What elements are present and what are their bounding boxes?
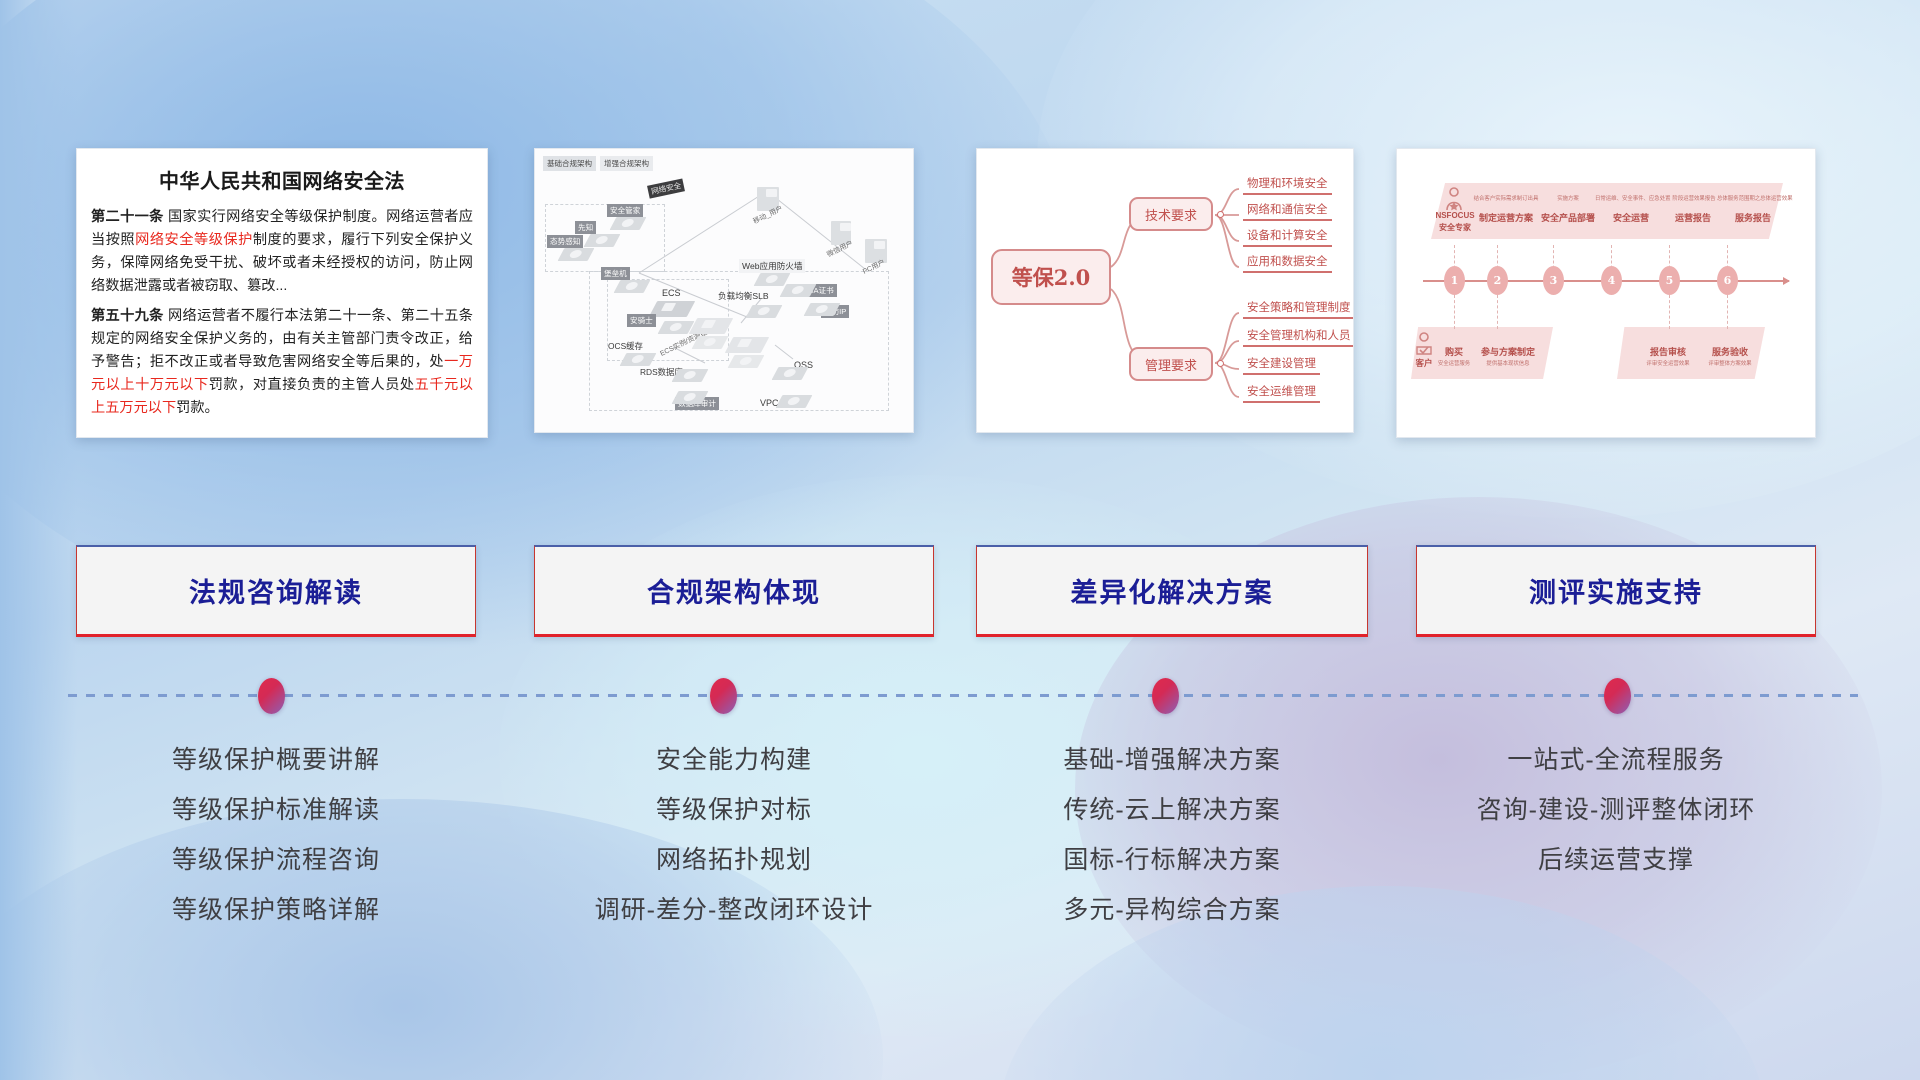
- expert-role-line1: NSFOCUS: [1433, 211, 1477, 220]
- top-step-title: 制定运营方案: [1477, 211, 1535, 224]
- list-item: 等级保护对标: [534, 785, 934, 835]
- mindmap-root: 等保2.0: [991, 249, 1111, 305]
- timeline-dot: [258, 678, 285, 714]
- mindmap-leaf: 安全运维管理: [1243, 383, 1320, 403]
- flow-step-number: 1: [1444, 266, 1465, 295]
- bottom-step-caption: 评审安全运营效果: [1641, 359, 1695, 367]
- top-step-caption: 总体服务范围期之总体运营效果: [1717, 194, 1791, 202]
- list-item: 等级保护概要讲解: [76, 735, 476, 785]
- list-item: 一站式-全流程服务: [1416, 735, 1816, 785]
- mindmap-leaf: 设备和计算安全: [1243, 227, 1332, 247]
- flow-step-number: 6: [1717, 266, 1738, 295]
- mindmap-leaf: 安全建设管理: [1243, 355, 1320, 375]
- list-column-regulation-consulting: 等级保护概要讲解 等级保护标准解读 等级保护流程咨询 等级保护策略详解: [76, 735, 476, 935]
- section-header-label: 差异化解决方案: [1071, 571, 1274, 610]
- bottom-step-title: 购买: [1439, 345, 1469, 358]
- top-step-title: 安全产品部署: [1537, 211, 1599, 224]
- list-item: 传统-云上解决方案: [976, 785, 1368, 835]
- bottom-step-title: 报告审核: [1645, 345, 1691, 358]
- list-item: 等级保护策略详解: [76, 885, 476, 935]
- list-item: 调研-差分-整改闭环设计: [534, 885, 934, 935]
- list-item: 等级保护标准解读: [76, 785, 476, 835]
- top-step-title: 运营报告: [1669, 211, 1717, 224]
- expert-person-icon: [1444, 187, 1464, 211]
- list-item: 咨询-建设-测评整体闭环: [1416, 785, 1816, 835]
- list-item: 等级保护流程咨询: [76, 835, 476, 885]
- customer-person-icon: [1415, 332, 1433, 356]
- top-step-caption: 日常运维、安全事件、应急处置: [1595, 194, 1667, 202]
- bottom-step-title: 参与方案制定: [1477, 345, 1539, 358]
- top-step-title: 安全运营: [1603, 211, 1659, 224]
- section-header-differentiated-solution[interactable]: 差异化解决方案: [976, 545, 1368, 637]
- label-anqishi: 安骑士: [627, 314, 656, 327]
- mindmap-branch-technical: 技术要求: [1129, 197, 1213, 231]
- timeline-dot: [710, 678, 737, 714]
- article-21-highlight: 网络安全等级保护: [135, 232, 253, 248]
- bottom-step-caption: 安全运营服务: [1435, 359, 1473, 367]
- section-header-label: 测评实施支持: [1529, 571, 1703, 610]
- mindmap-branch-management: 管理要求: [1129, 347, 1213, 381]
- mindmap-leaf: 安全策略和管理制度: [1243, 299, 1354, 319]
- top-step-caption: 实施方案: [1545, 194, 1591, 202]
- list-item: 基础-增强解决方案: [976, 735, 1368, 785]
- flow-step-number: 3: [1543, 266, 1564, 295]
- list-item: 国标-行标解决方案: [976, 835, 1368, 885]
- bottom-step-caption: 提供基本现状信息: [1477, 359, 1539, 367]
- timeline-dot: [1604, 678, 1631, 714]
- article-59-label: 第五十九条: [91, 308, 164, 324]
- section-header-label: 法规咨询解读: [189, 571, 363, 610]
- list-item: 多元-异构综合方案: [976, 885, 1368, 935]
- law-card-title: 中华人民共和国网络安全法: [91, 165, 473, 194]
- list-column-assessment-support: 一站式-全流程服务 咨询-建设-测评整体闭环 后续运营支撑: [1416, 735, 1816, 885]
- law-text-card: 中华人民共和国网络安全法 第二十一条 国家实行网络安全等级保护制度。网络运营者应…: [76, 148, 488, 438]
- bottom-step-title: 服务验收: [1707, 345, 1753, 358]
- mindmap-leaf: 应用和数据安全: [1243, 253, 1332, 273]
- bottom-step-caption: 评审整体方案效果: [1703, 359, 1757, 367]
- article-21-label: 第二十一条: [91, 209, 164, 225]
- article-59-text-c: 罚款。: [176, 400, 219, 416]
- list-item: 安全能力构建: [534, 735, 934, 785]
- mindmap-leaf: 安全管理机构和人员: [1243, 327, 1354, 347]
- section-headers: 法规咨询解读 合规架构体现 差异化解决方案 测评实施支持: [0, 545, 1920, 643]
- illustration-cards: 中华人民共和国网络安全法 第二十一条 国家实行网络安全等级保护制度。网络运营者应…: [0, 148, 1920, 448]
- expert-role-line2: 安全专家: [1433, 222, 1477, 233]
- list-item: 网络拓扑规划: [534, 835, 934, 885]
- section-header-assessment-support[interactable]: 测评实施支持: [1416, 545, 1816, 637]
- list-column-compliance-architecture: 安全能力构建 等级保护对标 网络拓扑规划 调研-差分-整改闭环设计: [534, 735, 934, 935]
- architecture-diagram-card: 基础合规架构 增强合规架构 网络安全: [534, 148, 914, 433]
- top-step-title: 服务报告: [1729, 211, 1777, 224]
- flow-step-number: 2: [1487, 266, 1508, 295]
- collapse-dot-icon-management[interactable]: [1217, 360, 1224, 367]
- list-column-differentiated-solution: 基础-增强解决方案 传统-云上解决方案 国标-行标解决方案 多元-异构综合方案: [976, 735, 1368, 935]
- customer-role-label: 客户: [1413, 357, 1435, 369]
- top-step-caption: 结合客户实际需求制订出具: [1473, 194, 1539, 202]
- law-article-21: 第二十一条 国家实行网络安全等级保护制度。网络运营者应当按照网络安全等级保护制度…: [91, 206, 473, 298]
- section-item-lists: 等级保护概要讲解 等级保护标准解读 等级保护流程咨询 等级保护策略详解 安全能力…: [0, 735, 1920, 975]
- law-article-59: 第五十九条 网络运营者不履行本法第二十一条、第二十五条规定的网络安全保护义务的，…: [91, 305, 473, 420]
- collapse-dot-icon-technical[interactable]: [1217, 211, 1224, 218]
- timeline-dot: [1152, 678, 1179, 714]
- service-flow-card: NSFOCUS 安全专家 结合客户实际需求制订出具 制定运营方案 实施方案 安全…: [1396, 148, 1816, 438]
- mindmap-leaf: 物理和环境安全: [1243, 175, 1332, 195]
- top-step-caption: 阶段运营效果报告: [1663, 194, 1725, 202]
- flow-step-number: 5: [1659, 266, 1680, 295]
- timeline-dashed-line: [68, 694, 1858, 697]
- article-59-text-b: 罚款，对直接负责的主管人员处: [209, 377, 415, 393]
- section-header-label: 合规架构体现: [647, 571, 821, 610]
- section-header-regulation-consulting[interactable]: 法规咨询解读: [76, 545, 476, 637]
- section-header-compliance-architecture[interactable]: 合规架构体现: [534, 545, 934, 637]
- timeline: [0, 660, 1920, 740]
- list-item: 后续运营支撑: [1416, 835, 1816, 885]
- mindmap-leaf: 网络和通信安全: [1243, 201, 1332, 221]
- mindmap-card: 等保2.0 技术要求 物理和环境安全 网络和通信安全 设备和计算安全 应用和数据…: [976, 148, 1354, 433]
- flow-step-number: 4: [1601, 266, 1622, 295]
